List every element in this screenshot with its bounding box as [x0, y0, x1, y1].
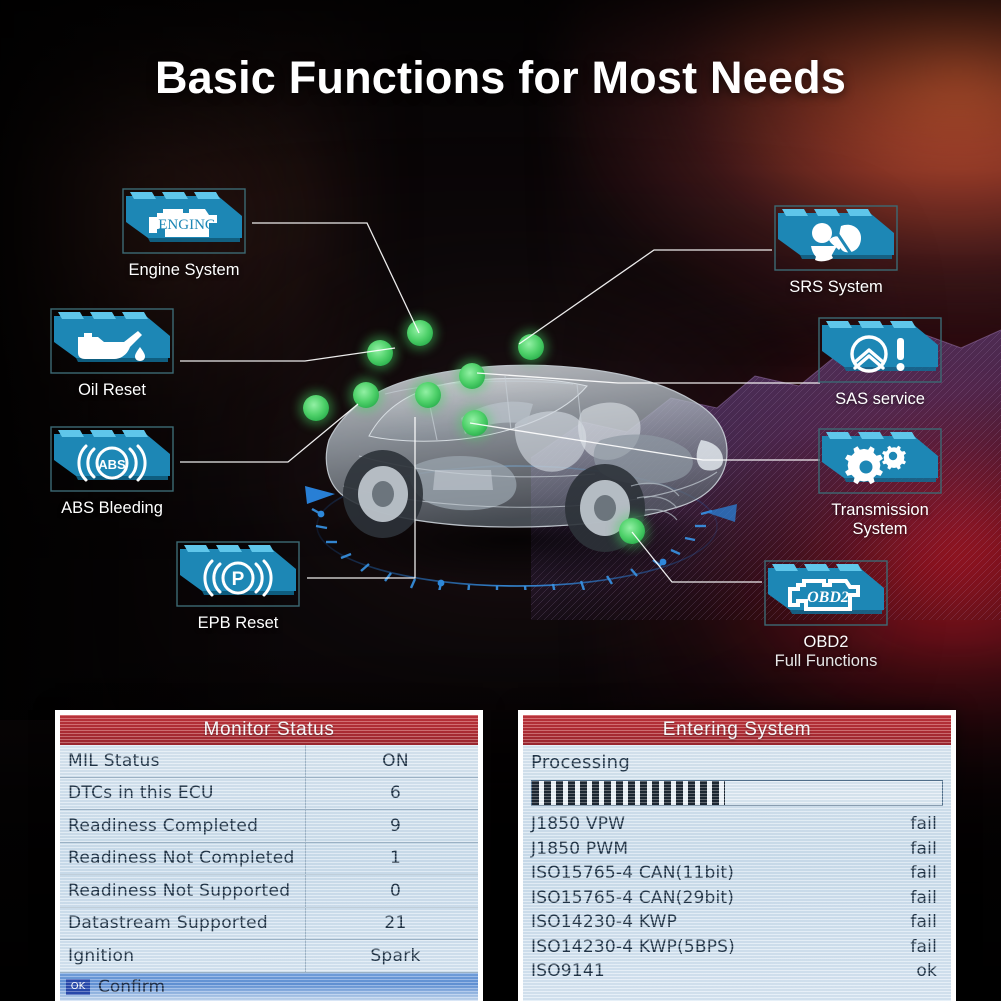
table-row[interactable]: Readiness Completed 9	[60, 810, 478, 843]
row-key: Datastream Supported	[60, 913, 313, 933]
svg-text:ABS: ABS	[98, 457, 126, 472]
row-value: Spark	[313, 946, 478, 966]
protocol-name: ISO15765-4 CAN(11bit)	[523, 863, 851, 883]
protocol-name: J1850 PWM	[523, 839, 851, 859]
hotspot-4	[459, 363, 485, 389]
svg-text:OBD2: OBD2	[807, 589, 849, 606]
row-value: 1	[313, 848, 478, 868]
confirm-label: Confirm	[98, 977, 165, 997]
obd2-engine-icon: OBD2	[764, 568, 888, 626]
row-key: Readiness Not Supported	[60, 881, 313, 901]
badge-chip[interactable]: OBD2	[764, 560, 888, 626]
badge-label: ABS Bleeding	[50, 499, 174, 518]
row-value: 9	[313, 816, 478, 836]
wheel-rear	[343, 450, 423, 538]
list-item[interactable]: J1850 PWM fail	[523, 837, 951, 862]
progress-bar-fill	[532, 781, 725, 805]
badge-label: Engine System	[122, 261, 246, 280]
badge-label: Oil Reset	[50, 381, 174, 400]
progress-bar	[531, 780, 943, 806]
gears-icon	[818, 436, 942, 494]
row-value: ON	[313, 751, 478, 771]
badge-label: EPB Reset	[176, 614, 300, 633]
hotspot-1	[407, 320, 433, 346]
column-divider	[305, 908, 306, 940]
svg-text:ENGING: ENGING	[158, 217, 216, 233]
column-divider	[305, 843, 306, 875]
list-item[interactable]: ISO14230-4 KWP(5BPS) fail	[523, 935, 951, 960]
row-key: Readiness Not Completed	[60, 848, 313, 868]
steering-angle-icon	[818, 325, 942, 383]
protocol-name: ISO14230-4 KWP(5BPS)	[523, 937, 851, 957]
row-key: DTCs in this ECU	[60, 783, 313, 803]
badge-transmission-system[interactable]: Transmission System	[818, 428, 942, 539]
row-key: MIL Status	[60, 751, 313, 771]
protocol-result: fail	[851, 912, 951, 932]
badge-srs-system[interactable]: SRS System	[774, 205, 898, 297]
row-value: 6	[313, 783, 478, 803]
badge-chip[interactable]	[774, 205, 898, 271]
badge-abs-bleeding[interactable]: ABS ABS Bleeding	[50, 426, 174, 518]
protocol-result: fail	[851, 888, 951, 908]
protocol-result: fail	[851, 839, 951, 859]
column-divider	[305, 778, 306, 810]
entering-system-panel: Entering System Processing J1850 VPW fai…	[518, 710, 956, 1001]
parking-brake-icon: P	[176, 549, 300, 607]
monitor-status-panel: Monitor Status MIL Status ON DTCs in thi…	[55, 710, 483, 1001]
badge-sas-service[interactable]: SAS service	[818, 317, 942, 409]
protocol-result: fail	[851, 937, 951, 957]
svg-text:P: P	[232, 569, 245, 590]
badge-chip[interactable]	[818, 428, 942, 494]
page-title: Basic Functions for Most Needs	[0, 52, 1001, 104]
hotspot-5	[353, 382, 379, 408]
processing-status: Processing	[523, 745, 951, 777]
hotspot-7	[303, 395, 329, 421]
abs-brake-icon: ABS	[50, 434, 174, 492]
column-divider	[305, 940, 306, 972]
entering-system-title: Entering System	[523, 715, 951, 745]
badge-obd2-full-functions[interactable]: OBD2 OBD2 Full Functions	[764, 560, 888, 671]
badge-chip[interactable]: ABS	[50, 426, 174, 492]
badge-label: SRS System	[774, 278, 898, 297]
promo-image-root: Basic Functions for Most Needs	[0, 0, 1001, 1001]
protocol-name: ISO9141	[523, 961, 851, 981]
hotspot-8	[462, 410, 488, 436]
table-row[interactable]: MIL Status ON	[60, 745, 478, 778]
table-row[interactable]: DTCs in this ECU 6	[60, 778, 478, 811]
hotspot-6	[415, 382, 441, 408]
protocol-result: ok	[851, 961, 951, 981]
hotspot-9	[619, 518, 645, 544]
ok-key-badge[interactable]: OK	[66, 979, 90, 995]
protocol-name: J1850 VPW	[523, 814, 851, 834]
list-item[interactable]: J1850 VPW fail	[523, 812, 951, 837]
badge-chip[interactable]	[50, 308, 174, 374]
row-key: Ignition	[60, 946, 313, 966]
column-divider	[305, 875, 306, 907]
engine-check-icon: ENGING	[122, 196, 246, 254]
badge-chip[interactable]	[818, 317, 942, 383]
table-row[interactable]: Readiness Not Completed 1	[60, 843, 478, 876]
protocol-result: fail	[851, 814, 951, 834]
table-row[interactable]: Readiness Not Supported 0	[60, 875, 478, 908]
row-value: 0	[313, 881, 478, 901]
confirm-footer[interactable]: OK Confirm	[60, 973, 478, 1001]
badge-label: OBD2 Full Functions	[764, 633, 888, 671]
row-value: 21	[313, 913, 478, 933]
list-item[interactable]: ISO9141 ok	[523, 959, 951, 984]
badge-epb-reset[interactable]: P EPB Reset	[176, 541, 300, 633]
monitor-status-title: Monitor Status	[60, 715, 478, 745]
column-divider	[305, 745, 306, 777]
badge-label: Transmission System	[818, 501, 942, 539]
monitor-status-screen: Monitor Status MIL Status ON DTCs in thi…	[60, 715, 478, 1001]
badge-label: SAS service	[818, 390, 942, 409]
badge-engine-system[interactable]: ENGING Engine System	[122, 188, 246, 280]
table-row[interactable]: Datastream Supported 21	[60, 908, 478, 941]
airbag-icon	[774, 213, 898, 271]
protocol-name: ISO15765-4 CAN(29bit)	[523, 888, 851, 908]
badge-chip[interactable]: P	[176, 541, 300, 607]
list-item[interactable]: ISO15765-4 CAN(29bit) fail	[523, 886, 951, 911]
hotspot-2	[367, 340, 393, 366]
protocol-name: ISO14230-4 KWP	[523, 912, 851, 932]
protocol-result: fail	[851, 863, 951, 883]
hotspot-3	[518, 334, 544, 360]
oil-can-icon	[50, 316, 174, 374]
badge-chip[interactable]: ENGING	[122, 188, 246, 254]
table-row[interactable]: Ignition Spark	[60, 940, 478, 973]
vehicle-xray-illustration	[265, 290, 755, 590]
list-item[interactable]: ISO15765-4 CAN(11bit) fail	[523, 861, 951, 886]
row-key: Readiness Completed	[60, 816, 313, 836]
column-divider	[305, 810, 306, 842]
entering-system-screen: Entering System Processing J1850 VPW fai…	[523, 715, 951, 1001]
list-item[interactable]: ISO14230-4 KWP fail	[523, 910, 951, 935]
badge-oil-reset[interactable]: Oil Reset	[50, 308, 174, 400]
